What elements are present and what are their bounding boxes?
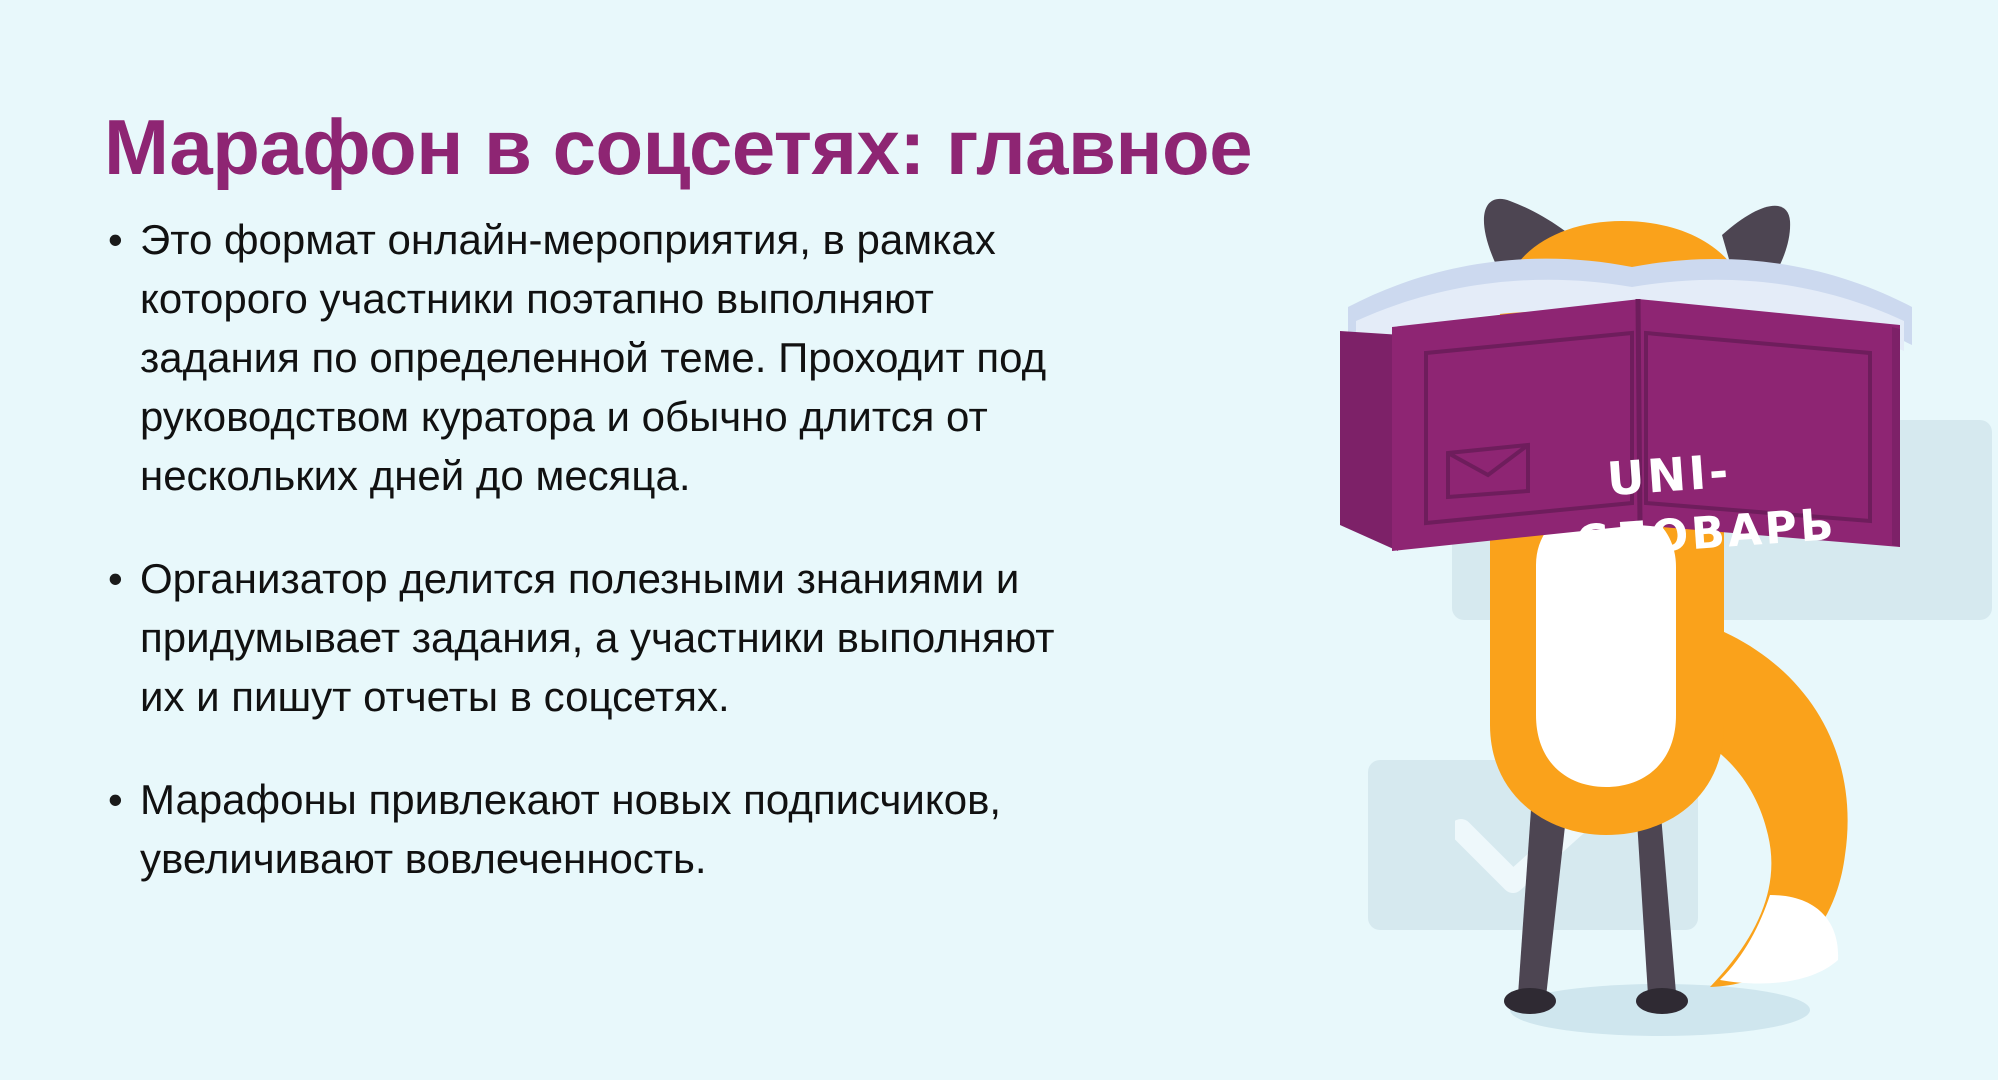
bullet-point-icon: •	[100, 549, 140, 608]
list-item-text: Это формат онлайн-мероприятия, в рамках …	[140, 210, 1100, 505]
list-item: • Это формат онлайн-мероприятия, в рамка…	[100, 210, 1100, 505]
fox-mascot-illustration	[1340, 195, 1998, 1075]
bullet-point-icon: •	[100, 770, 140, 829]
bullet-point-icon: •	[100, 210, 140, 269]
slide-canvas: Марафон в соцсетях: главное • Это формат…	[0, 0, 1998, 1080]
list-item: • Организатор делится полезными знаниями…	[100, 549, 1100, 726]
list-item-text: Марафоны привлекают новых подписчиков, у…	[140, 770, 1100, 888]
list-item: • Марафоны привлекают новых подписчиков,…	[100, 770, 1100, 888]
bullet-list: • Это формат онлайн-мероприятия, в рамка…	[100, 210, 1100, 888]
list-item-text: Организатор делится полезными знаниями и…	[140, 549, 1100, 726]
page-title: Марафон в соцсетях: главное	[104, 107, 1664, 189]
